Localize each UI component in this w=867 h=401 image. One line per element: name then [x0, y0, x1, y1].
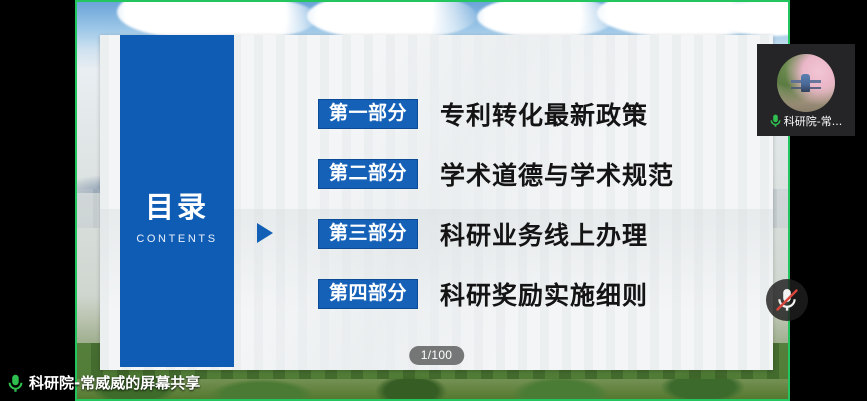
- cloud-decoration: [307, 0, 477, 40]
- meeting-screen-share-view: 目录 CONTENTS 第一部分 专利转化最新政策 第二部分 学术道德与学术规范…: [0, 0, 867, 401]
- presentation-slide: 目录 CONTENTS 第一部分 专利转化最新政策 第二部分 学术道德与学术规范…: [100, 35, 773, 370]
- contents-item-3: 第三部分 科研业务线上办理: [318, 217, 738, 251]
- contents-item-4: 第四部分 科研奖励实施细则: [318, 277, 738, 311]
- contents-item-1: 第一部分 专利转化最新政策: [318, 97, 738, 131]
- contents-subtitle: CONTENTS: [120, 233, 234, 245]
- microphone-green-icon: [770, 114, 781, 128]
- contents-title: 目录: [120, 193, 234, 222]
- contents-item-badge: 第三部分: [318, 219, 418, 249]
- microphone-muted-icon: [766, 279, 808, 321]
- cloud-decoration: [197, 0, 317, 38]
- contents-item-2: 第二部分 学术道德与学术规范: [318, 157, 738, 191]
- contents-item-label: 学术道德与学术规范: [440, 156, 674, 192]
- microphone-green-icon: [8, 374, 23, 393]
- avatar-photo-detail: [801, 74, 810, 92]
- contents-item-badge: 第一部分: [318, 99, 418, 129]
- share-status-label: 科研院-常威威的屏幕共享: [29, 376, 200, 391]
- contents-item-badge: 第四部分: [318, 279, 418, 309]
- contents-item-label: 专利转化最新政策: [440, 96, 648, 132]
- participant-thumbnail[interactable]: 科研院-常...: [757, 44, 855, 136]
- cloud-decoration: [477, 0, 617, 38]
- page-indicator: 1/100: [409, 346, 465, 365]
- contents-item-label: 科研奖励实施细则: [440, 276, 648, 312]
- share-status-bar: 科研院-常威威的屏幕共享: [8, 374, 200, 393]
- participant-name-row: 科研院-常...: [757, 114, 855, 128]
- contents-item-badge: 第二部分: [318, 159, 418, 189]
- contents-list: 第一部分 专利转化最新政策 第二部分 学术道德与学术规范 第三部分 科研业务线上…: [318, 97, 738, 337]
- shared-screen-region: 目录 CONTENTS 第一部分 专利转化最新政策 第二部分 学术道德与学术规范…: [75, 0, 790, 401]
- mute-indicator[interactable]: [766, 279, 808, 321]
- participant-name: 科研院-常...: [784, 116, 842, 127]
- contents-panel: 目录 CONTENTS: [120, 35, 234, 367]
- contents-item-label: 科研业务线上办理: [440, 216, 648, 252]
- play-triangle-icon: [257, 223, 273, 243]
- avatar: [777, 54, 835, 112]
